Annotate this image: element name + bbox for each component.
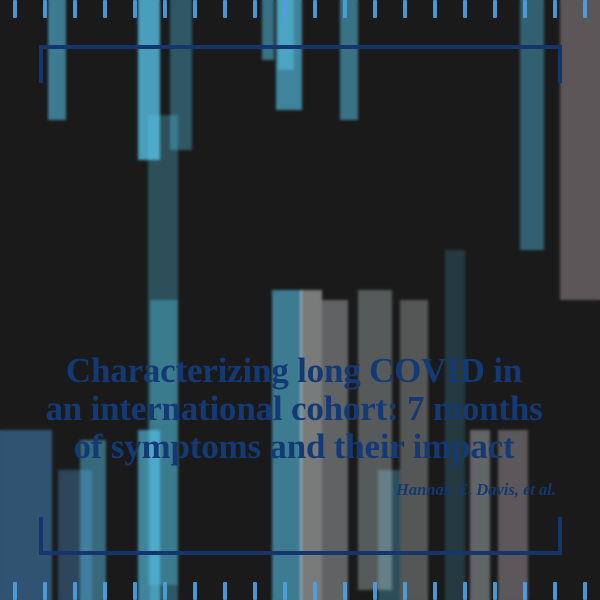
ruler-tick [583, 582, 587, 600]
mosaic-background [0, 0, 600, 600]
ruler-ticks-top [0, 0, 600, 22]
ruler-tick [283, 0, 287, 18]
ruler-tick [253, 0, 257, 18]
ruler-tick [583, 0, 587, 18]
ruler-tick [433, 582, 437, 600]
ruler-tick [133, 582, 137, 600]
ruler-tick [403, 0, 407, 18]
ruler-tick [253, 582, 257, 600]
ruler-tick [493, 0, 497, 18]
ruler-tick [313, 582, 317, 600]
ruler-tick [133, 0, 137, 18]
ruler-tick [343, 582, 347, 600]
title-line-1: Characterizing long COVID in [30, 352, 558, 390]
ruler-tick [163, 582, 167, 600]
journal-cover: Characterizing long COVID in an internat… [0, 0, 600, 600]
ruler-tick [373, 0, 377, 18]
mosaic-canvas [0, 0, 600, 600]
ruler-tick [43, 582, 47, 600]
ruler-tick [223, 0, 227, 18]
ruler-tick [493, 582, 497, 600]
page-title: Characterizing long COVID in an internat… [30, 352, 562, 466]
ruler-tick [103, 0, 107, 18]
cover-text-block: Characterizing long COVID in an internat… [0, 352, 600, 500]
ruler-tick [193, 582, 197, 600]
ruler-tick [553, 582, 557, 600]
ruler-tick [523, 0, 527, 18]
ruler-tick [523, 582, 527, 600]
ruler-tick [433, 0, 437, 18]
ruler-tick [73, 582, 77, 600]
ruler-tick [163, 0, 167, 18]
ruler-tick [463, 0, 467, 18]
ruler-tick [223, 582, 227, 600]
ruler-tick [463, 582, 467, 600]
ruler-tick [283, 582, 287, 600]
ruler-tick [103, 582, 107, 600]
title-line-2: an international cohort: 7 months [30, 390, 558, 428]
ruler-tick [343, 0, 347, 18]
ruler-ticks-bottom [0, 578, 600, 600]
ruler-tick [313, 0, 317, 18]
ruler-tick [73, 0, 77, 18]
ruler-tick [13, 582, 17, 600]
ruler-tick [13, 0, 17, 18]
ruler-tick [43, 0, 47, 18]
ruler-tick [403, 582, 407, 600]
ruler-tick [553, 0, 557, 18]
authors-byline: Hannah E. Davis, et al. [30, 480, 562, 500]
ruler-tick [193, 0, 197, 18]
title-line-3: of symptoms and their impact [30, 428, 558, 466]
ruler-tick [373, 582, 377, 600]
